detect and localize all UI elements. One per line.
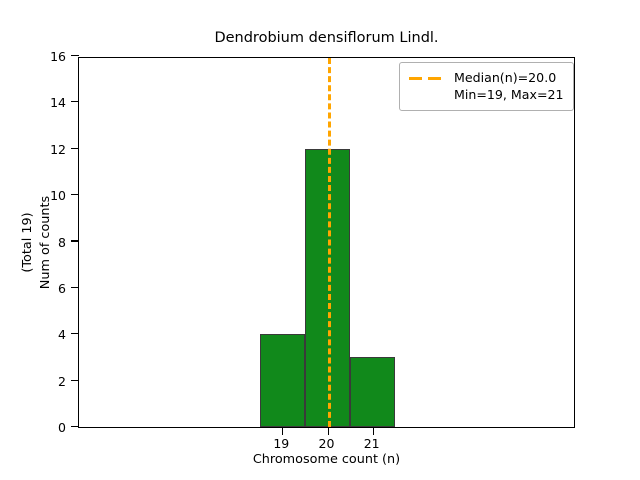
bar	[260, 334, 305, 427]
chart-figure: Dendrobium densiflorum Lindl. Num of cou…	[0, 0, 640, 480]
y-tick-label: 12	[0, 142, 66, 157]
x-tick-label: 19	[273, 436, 289, 451]
x-tick-label: 20	[319, 436, 335, 451]
median-line	[328, 58, 331, 427]
y-tick	[71, 101, 79, 102]
legend-line-1: Median(n)=20.0	[454, 69, 564, 86]
y-tick	[71, 426, 79, 427]
chart-legend: Median(n)=20.0 Min=19, Max=21	[399, 62, 574, 111]
plot-inner	[79, 58, 574, 427]
median-line-swatch-icon	[409, 70, 445, 87]
x-tick	[282, 427, 283, 435]
y-tick-label: 14	[0, 95, 66, 110]
chart-title: Dendrobium densiflorum Lindl.	[78, 30, 575, 46]
y-tick	[71, 287, 79, 288]
x-axis-label: Chromosome count (n)	[78, 452, 575, 467]
bar	[350, 357, 395, 427]
y-tick-label: 6	[0, 281, 66, 296]
y-tick	[71, 333, 79, 334]
y-tick	[71, 240, 79, 241]
x-tick	[373, 427, 374, 435]
y-tick-label: 0	[0, 420, 66, 435]
y-tick-label: 4	[0, 327, 66, 342]
y-tick-label: 16	[0, 49, 66, 64]
plot-area	[78, 57, 575, 428]
x-tick-label: 21	[364, 436, 380, 451]
y-tick	[71, 380, 79, 381]
legend-entry-text: Median(n)=20.0 Min=19, Max=21	[454, 69, 564, 103]
legend-line-2: Min=19, Max=21	[454, 86, 564, 103]
y-tick-label: 8	[0, 235, 66, 250]
y-tick	[71, 194, 79, 195]
x-tick	[328, 427, 329, 435]
y-tick	[71, 55, 79, 56]
y-tick-label: 10	[0, 188, 66, 203]
y-tick-label: 2	[0, 374, 66, 389]
y-tick	[71, 148, 79, 149]
